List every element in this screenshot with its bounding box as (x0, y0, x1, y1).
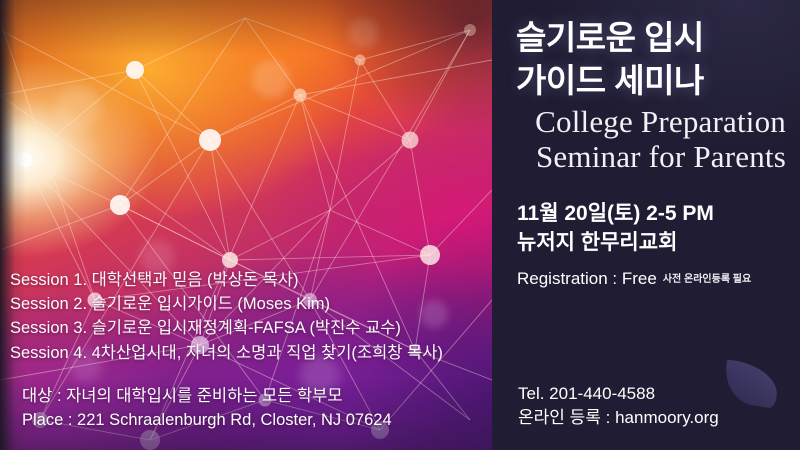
date-and-venue: 11월 20일(토) 2-5 PM 뉴저지 한무리교회 (517, 200, 800, 258)
session-list: Session 1. 대학선택과 믿음 (박상돈 목사) Session 2. … (10, 268, 488, 365)
english-title: College Preparation Seminar for Parents (492, 104, 786, 175)
registration-info: Registration : Free사전 온라인등록 필요 (517, 269, 751, 289)
registration-label: Registration : Free (517, 269, 657, 288)
seminar-poster: Session 1. 대학선택과 믿음 (박상돈 목사) Session 2. … (0, 0, 800, 450)
registration-note: 사전 온라인등록 필요 (663, 274, 751, 285)
korean-title: 슬기로운 입시 가이드 세미나 (516, 17, 800, 103)
audience-and-place: 대상 : 자녀의 대학입시를 준비하는 모든 학부모 Place : 221 S… (22, 384, 488, 432)
edge-vignette (0, 0, 492, 450)
artwork-panel: Session 1. 대학선택과 믿음 (박상돈 목사) Session 2. … (0, 0, 492, 450)
